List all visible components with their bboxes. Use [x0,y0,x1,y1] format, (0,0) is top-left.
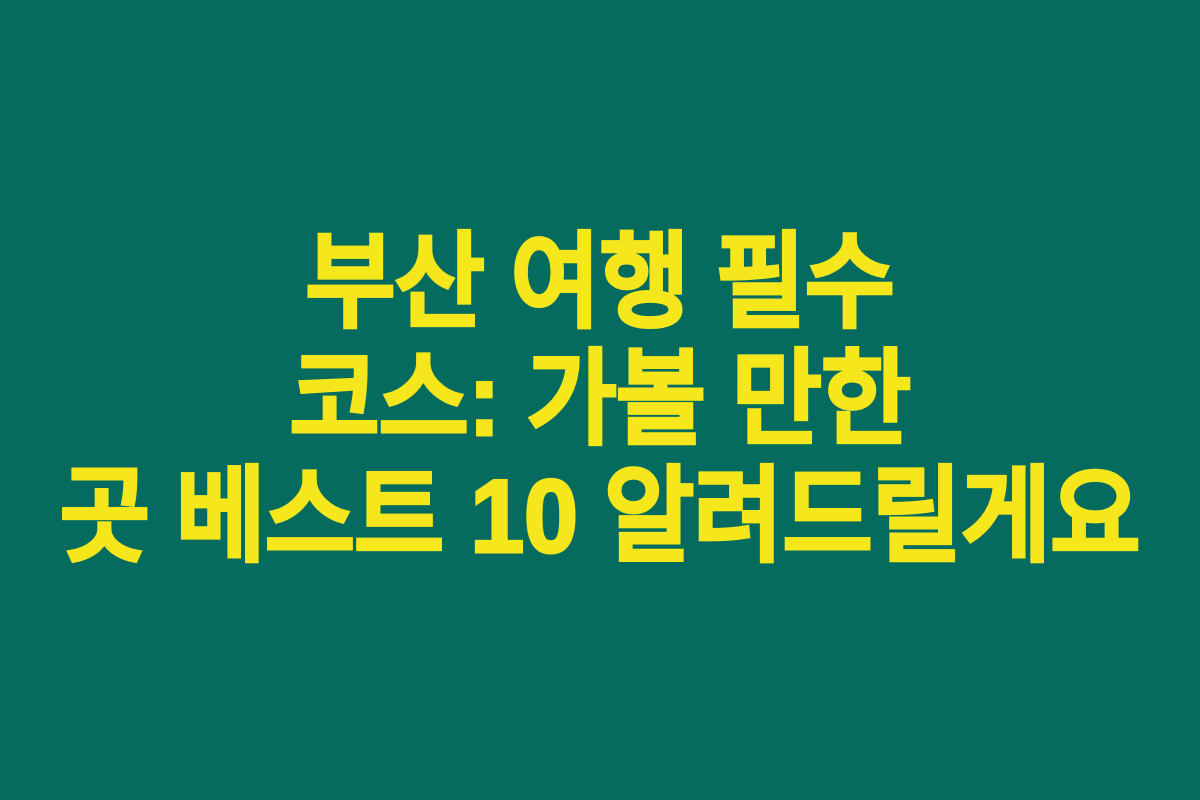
headline-line-2: 코스: 가볼 만한 [290,342,911,459]
headline-text: 부산 여행 필수 코스: 가볼 만한 곳 베스트 10 알려드릴게요 [0,225,1200,576]
banner-canvas: 부산 여행 필수 코스: 가볼 만한 곳 베스트 10 알려드릴게요 [0,0,1200,800]
headline-line-3: 곳 베스트 10 알려드릴게요 [60,459,1140,576]
headline-line-1: 부산 여행 필수 [306,225,895,342]
